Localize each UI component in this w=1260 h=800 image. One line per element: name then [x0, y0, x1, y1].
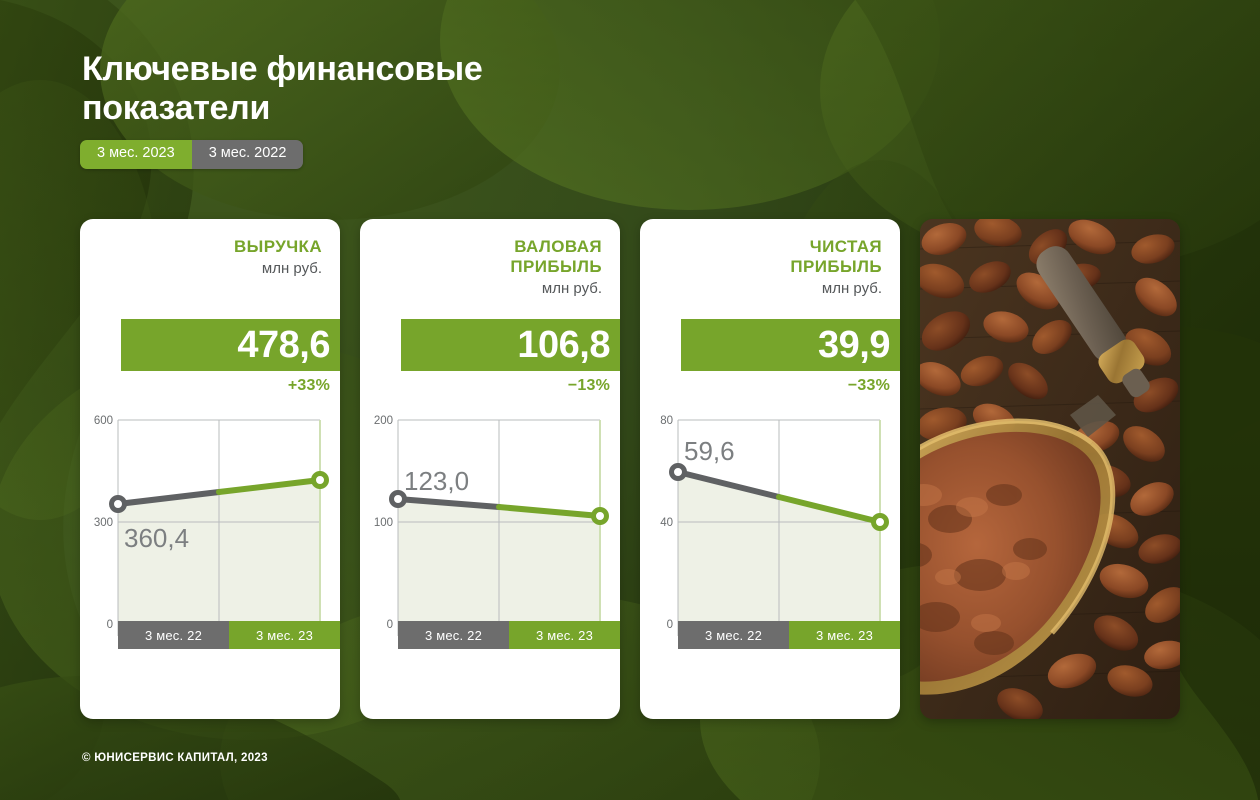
- datapoint-current: [314, 474, 327, 487]
- chart-svg: 600 300 0 360,4: [80, 404, 340, 649]
- datapoint-current: [874, 516, 887, 529]
- chart-gross-profit: 200 100 0 123,0 3 мес. 22 3 мес. 23: [360, 404, 620, 679]
- ytick-top: 80: [660, 415, 673, 427]
- datapoint-previous-label: 360,4: [124, 523, 189, 553]
- value-band: 39,9: [681, 319, 900, 371]
- card-unit: млн руб.: [658, 280, 882, 297]
- card-header: ВАЛОВАЯ ПРИБЫЛЬ млн руб.: [360, 219, 620, 297]
- chart-net-profit: 80 40 0 59,6 3 мес. 22 3 мес. 23: [640, 404, 900, 679]
- delta-badge: −13%: [568, 377, 610, 395]
- datapoint-previous: [392, 493, 405, 506]
- value-band: 106,8: [401, 319, 620, 371]
- metric-card-net-profit[interactable]: ЧИСТАЯ ПРИБЫЛЬ млн руб. 39,9 −33% 80 40 …: [640, 219, 900, 719]
- card-header: ЧИСТАЯ ПРИБЫЛЬ млн руб.: [640, 219, 900, 297]
- copyright: © ЮНИСЕРВИС КАПИТАЛ, 2023: [82, 752, 268, 764]
- legend: 3 мес. 2023 3 мес. 2022: [80, 140, 303, 169]
- metric-card-gross-profit[interactable]: ВАЛОВАЯ ПРИБЫЛЬ млн руб. 106,8 −13% 200 …: [360, 219, 620, 719]
- card-unit: млн руб.: [98, 260, 322, 277]
- cocoa-photo-illustration: [920, 219, 1180, 719]
- delta-badge: −33%: [848, 377, 890, 395]
- chart-svg: 200 100 0 123,0: [360, 404, 620, 649]
- delta-badge: +33%: [288, 377, 330, 395]
- ytick-top: 200: [374, 415, 393, 427]
- chart-revenue: 600 300 0 360,4 3 мес. 22 3 мес. 23: [80, 404, 340, 679]
- datapoint-current: [594, 510, 607, 523]
- legend-pill-current[interactable]: 3 мес. 2023: [80, 140, 192, 169]
- page-title: Ключевые финансовые показатели: [82, 50, 702, 129]
- xlabel-previous: 3 мес. 22: [118, 621, 229, 649]
- metric-value: 39,9: [818, 326, 900, 364]
- datapoint-previous-label: 59,6: [684, 436, 735, 466]
- ytick-mid: 300: [94, 517, 113, 529]
- card-title: ВЫРУЧКА: [98, 237, 322, 257]
- card-title: ВАЛОВАЯ ПРИБЫЛЬ: [378, 237, 602, 277]
- x-axis-labels: 3 мес. 22 3 мес. 23: [398, 621, 620, 649]
- xlabel-previous: 3 мес. 22: [398, 621, 509, 649]
- metric-value: 478,6: [237, 326, 340, 364]
- value-band: 478,6: [121, 319, 340, 371]
- metric-value: 106,8: [517, 326, 620, 364]
- legend-pill-previous[interactable]: 3 мес. 2022: [192, 140, 304, 169]
- ytick-bottom: 0: [667, 619, 673, 631]
- x-axis-labels: 3 мес. 22 3 мес. 23: [118, 621, 340, 649]
- datapoint-previous: [672, 466, 685, 479]
- card-title: ЧИСТАЯ ПРИБЫЛЬ: [658, 237, 882, 277]
- infographic-canvas: Ключевые финансовые показатели 3 мес. 20…: [0, 0, 1260, 800]
- xlabel-current: 3 мес. 23: [789, 621, 900, 649]
- x-axis-labels: 3 мес. 22 3 мес. 23: [678, 621, 900, 649]
- xlabel-previous: 3 мес. 22: [678, 621, 789, 649]
- ytick-top: 600: [94, 415, 113, 427]
- xlabel-current: 3 мес. 23: [229, 621, 340, 649]
- xlabel-current: 3 мес. 23: [509, 621, 620, 649]
- metric-card-revenue[interactable]: ВЫРУЧКА млн руб. 478,6 +33% 600 300 0: [80, 219, 340, 719]
- card-unit: млн руб.: [378, 280, 602, 297]
- card-header: ВЫРУЧКА млн руб.: [80, 219, 340, 277]
- cocoa-photo: [920, 219, 1180, 719]
- chart-svg: 80 40 0 59,6: [640, 404, 900, 649]
- ytick-mid: 100: [374, 517, 393, 529]
- ytick-bottom: 0: [107, 619, 113, 631]
- datapoint-previous-label: 123,0: [404, 466, 469, 496]
- ytick-bottom: 0: [387, 619, 393, 631]
- ytick-mid: 40: [660, 517, 673, 529]
- datapoint-previous: [112, 498, 125, 511]
